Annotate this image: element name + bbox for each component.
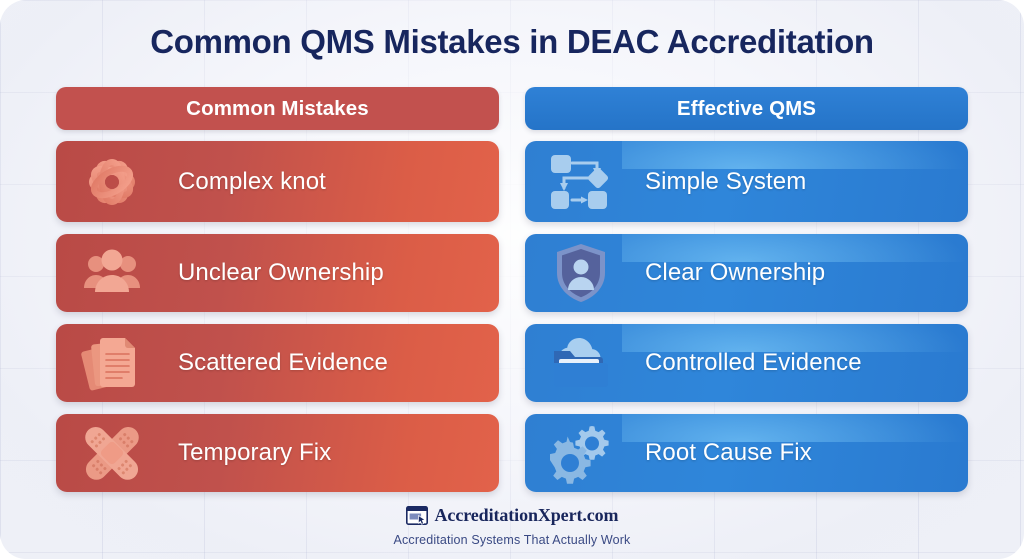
tagline: Accreditation Systems That Actually Work xyxy=(0,533,1024,547)
brand-line[interactable]: AccreditationXpert.com xyxy=(406,505,619,526)
row-complex-knot[interactable]: Complex knot xyxy=(56,141,499,222)
infographic-canvas: Common QMS Mistakes in DEAC Accreditatio… xyxy=(0,0,1024,559)
flowchart-icon xyxy=(525,141,637,222)
row-label: Root Cause Fix xyxy=(645,439,968,467)
footer: AccreditationXpert.com Accreditation Sys… xyxy=(0,505,1024,547)
column-header-common-mistakes: Common Mistakes xyxy=(56,87,499,130)
row-label: Scattered Evidence xyxy=(178,349,499,377)
page-title: Common QMS Mistakes in DEAC Accreditatio… xyxy=(0,23,1024,61)
gears-icon xyxy=(525,414,637,492)
column-header-effective-qms: Effective QMS xyxy=(525,87,968,130)
row-label: Controlled Evidence xyxy=(645,349,968,377)
column-effective-qms: Effective QMS xyxy=(525,87,968,504)
row-label: Unclear Ownership xyxy=(178,259,499,287)
row-label: Simple System xyxy=(645,168,968,196)
row-label: Temporary Fix xyxy=(178,439,499,467)
rows-common-mistakes: Complex knot xyxy=(56,141,499,492)
people-group-icon xyxy=(56,234,168,312)
rows-effective-qms: Simple System Clear Ownership xyxy=(525,141,968,492)
row-scattered-evidence[interactable]: Scattered Evidence xyxy=(56,324,499,402)
column-common-mistakes: Common Mistakes xyxy=(56,87,499,504)
shield-person-icon xyxy=(525,234,637,312)
scattered-documents-icon xyxy=(56,324,168,402)
crossed-bandages-icon xyxy=(56,414,168,492)
row-clear-ownership[interactable]: Clear Ownership xyxy=(525,234,968,312)
row-unclear-ownership[interactable]: Unclear Ownership xyxy=(56,234,499,312)
row-label: Complex knot xyxy=(178,168,499,196)
brand-name: AccreditationXpert.com xyxy=(435,505,619,526)
row-label: Clear Ownership xyxy=(645,259,968,287)
cloud-folder-icon xyxy=(525,324,637,402)
knot-icon xyxy=(56,141,168,222)
row-root-cause-fix[interactable]: Root Cause Fix xyxy=(525,414,968,492)
row-controlled-evidence[interactable]: Controlled Evidence xyxy=(525,324,968,402)
browser-cursor-icon xyxy=(406,506,428,525)
row-temporary-fix[interactable]: Temporary Fix xyxy=(56,414,499,492)
row-simple-system[interactable]: Simple System xyxy=(525,141,968,222)
